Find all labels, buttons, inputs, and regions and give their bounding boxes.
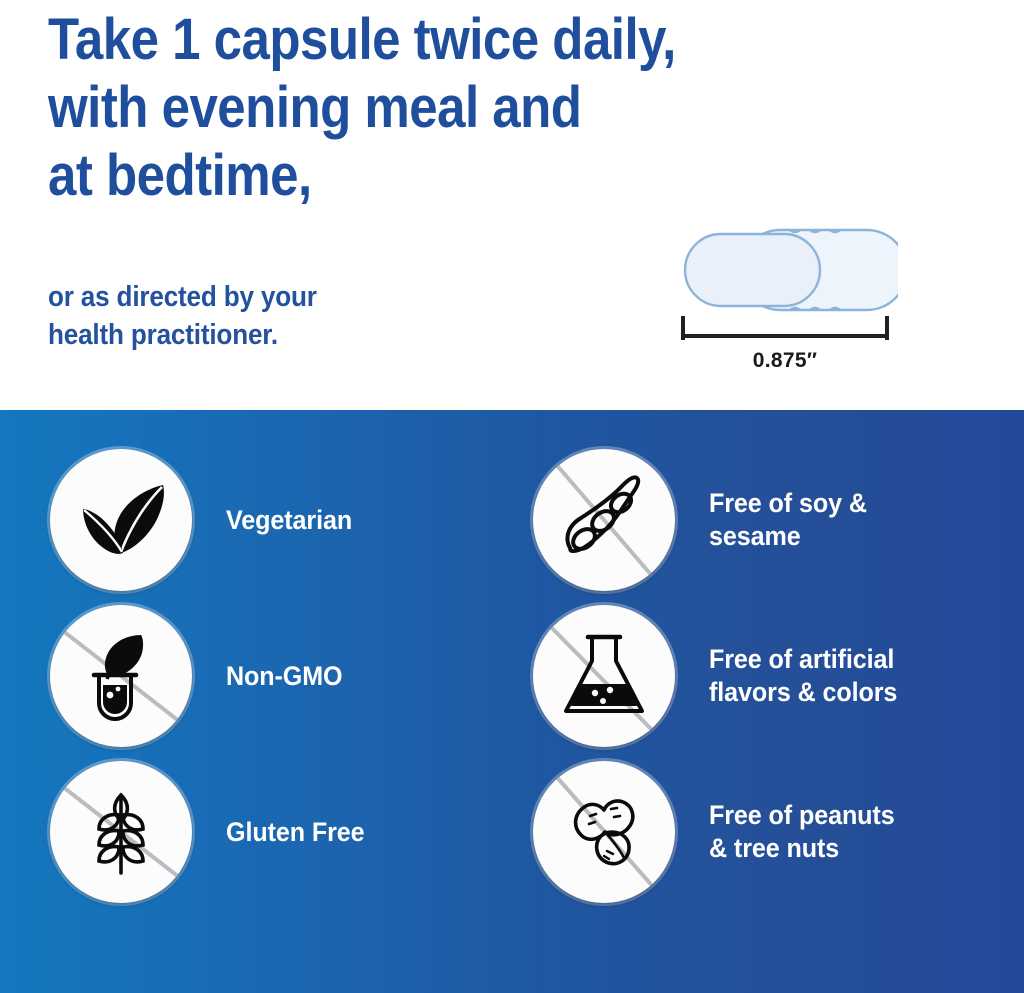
capsule-size-diagram: 0.875″	[672, 222, 898, 382]
peanuts-nuts-icon	[533, 761, 675, 903]
badge-free-of-peanuts-tree-nuts[interactable]: Free of peanuts & tree nuts	[533, 761, 993, 903]
subheadline-line-2: health practitioner.	[48, 316, 426, 354]
badge-label-free-of-soy-sesame: Free of soy & sesame	[709, 449, 988, 591]
badge-non-gmo[interactable]: Non-GMO	[50, 605, 510, 747]
attributes-panel: Vegetarian	[0, 410, 1024, 993]
badge-label-line-1: Non-GMO	[226, 660, 343, 693]
badge-vegetarian[interactable]: Vegetarian	[50, 449, 510, 591]
capsule-dimension-label: 0.875″	[672, 349, 898, 373]
page-title: Take 1 capsule twice daily, with evening…	[48, 6, 664, 210]
badge-circle-vegetarian	[50, 449, 192, 591]
badge-label-line-1: Free of peanuts	[709, 799, 895, 832]
badge-gluten-free[interactable]: Gluten Free	[50, 761, 510, 903]
page-subtitle: or as directed by your health practition…	[48, 278, 426, 354]
product-dosage-infographic: Take 1 capsule twice daily, with evening…	[0, 0, 1024, 993]
badge-label-line-2: & tree nuts	[709, 832, 895, 865]
headline-line-3: at bedtime,	[48, 142, 664, 210]
badge-label-line-1: Free of soy &	[709, 487, 867, 520]
soybean-pod-icon	[533, 449, 675, 591]
badge-free-of-soy-sesame[interactable]: Free of soy & sesame	[533, 449, 993, 591]
dimension-bracket	[683, 318, 887, 338]
badge-label-free-of-artificial-flavors-colors: Free of artificial flavors & colors	[709, 605, 988, 747]
headline-line-1: Take 1 capsule twice daily,	[48, 6, 664, 74]
badge-label-line-1: Vegetarian	[226, 504, 352, 537]
headline-line-2: with evening meal and	[48, 74, 664, 142]
test-tube-leaf-icon	[50, 605, 192, 747]
erlenmeyer-flask-icon	[533, 605, 675, 747]
badge-label-line-1: Gluten Free	[226, 816, 365, 849]
badge-label-free-of-peanuts-tree-nuts: Free of peanuts & tree nuts	[709, 761, 988, 903]
badge-label-line-1: Free of artificial	[709, 643, 897, 676]
badge-circle-free-of-peanuts-tree-nuts	[533, 761, 675, 903]
badge-label-non-gmo: Non-GMO	[226, 605, 505, 747]
badge-label-line-2: flavors & colors	[709, 676, 897, 709]
capsule-icon	[672, 222, 898, 342]
badge-label-vegetarian: Vegetarian	[226, 449, 505, 591]
badge-circle-non-gmo	[50, 605, 192, 747]
subheadline-line-1: or as directed by your	[48, 278, 426, 316]
badge-circle-free-of-artificial-flavors-colors	[533, 605, 675, 747]
leaves-icon	[50, 449, 192, 591]
wheat-stalk-icon	[50, 761, 192, 903]
badge-circle-gluten-free	[50, 761, 192, 903]
prohibition-slash-icon	[547, 623, 655, 733]
badge-label-line-2: sesame	[709, 520, 867, 553]
badge-circle-free-of-soy-sesame	[533, 449, 675, 591]
badge-free-of-artificial-flavors-colors[interactable]: Free of artificial flavors & colors	[533, 605, 993, 747]
badge-label-gluten-free: Gluten Free	[226, 761, 505, 903]
dosage-instructions-section: Take 1 capsule twice daily, with evening…	[0, 0, 1024, 410]
